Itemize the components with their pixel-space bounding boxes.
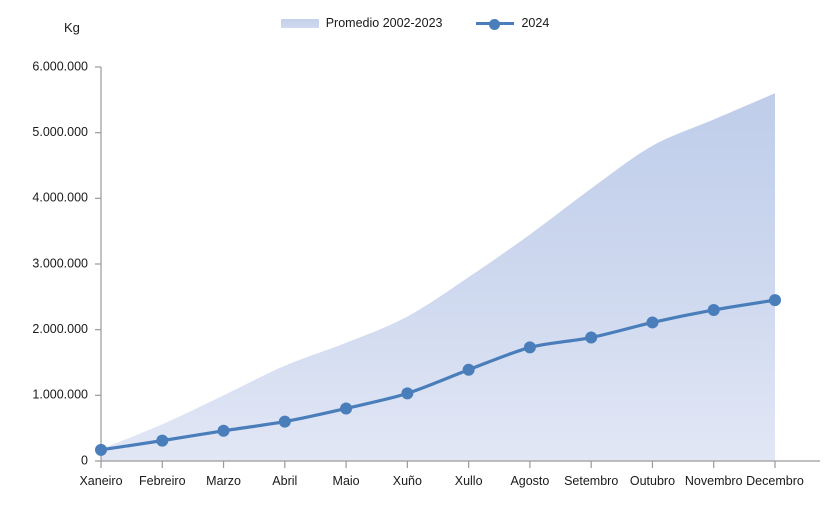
svg-text:Xullo: Xullo (455, 474, 483, 488)
chart-container: Promedio 2002-2023 2024 Kg 6.000.0005.00… (0, 0, 830, 522)
svg-text:Abril: Abril (272, 474, 297, 488)
svg-text:Agosto: Agosto (510, 474, 549, 488)
svg-text:Xaneiro: Xaneiro (79, 474, 122, 488)
plot-area: 6.000.0005.000.0004.000.0003.000.0002.00… (0, 0, 830, 522)
svg-text:2.000.000: 2.000.000 (32, 322, 88, 336)
svg-text:4.000.000: 4.000.000 (32, 191, 88, 205)
svg-text:0: 0 (81, 453, 88, 467)
svg-text:Novembro: Novembro (685, 474, 743, 488)
svg-text:6.000.000: 6.000.000 (32, 59, 88, 73)
svg-text:Maio: Maio (333, 474, 360, 488)
svg-text:1.000.000: 1.000.000 (32, 388, 88, 402)
svg-text:5.000.000: 5.000.000 (32, 125, 88, 139)
y-axis-labels: 6.000.0005.000.0004.000.0003.000.0002.00… (32, 59, 88, 467)
svg-text:Marzo: Marzo (206, 474, 241, 488)
svg-text:Febreiro: Febreiro (139, 474, 186, 488)
y-axis-ticks (95, 67, 101, 461)
svg-text:Decembro: Decembro (746, 474, 804, 488)
x-axis-labels: XaneiroFebreiroMarzoAbrilMaioXuñoXulloAg… (79, 474, 803, 488)
svg-text:Xuño: Xuño (393, 474, 422, 488)
svg-text:Setembro: Setembro (564, 474, 618, 488)
x-axis-ticks (101, 461, 775, 468)
svg-text:Outubro: Outubro (630, 474, 675, 488)
series-area-promedio (101, 93, 775, 461)
svg-text:3.000.000: 3.000.000 (32, 256, 88, 270)
